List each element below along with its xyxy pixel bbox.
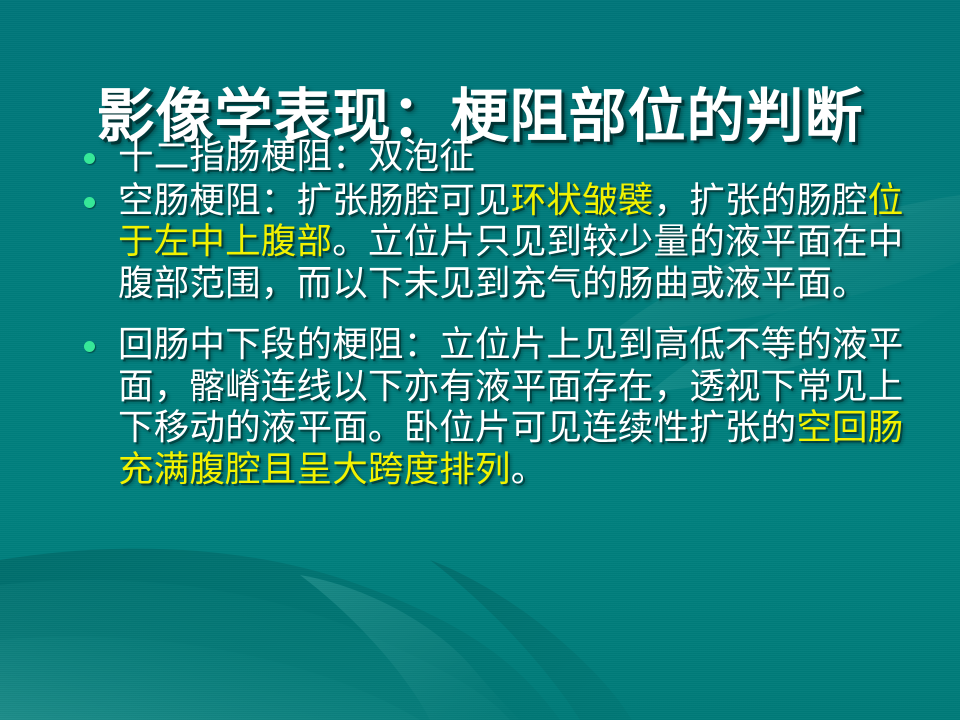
text-run: 。立位片只见到较少量的液平面 bbox=[332, 221, 832, 262]
list-item[interactable]: 十二指肠梗阻：双泡征 bbox=[72, 136, 924, 178]
bullet-dot-icon bbox=[84, 197, 95, 208]
bullet-dot-icon bbox=[84, 341, 95, 352]
text-run: 面。 bbox=[796, 263, 867, 304]
bullet-dot-icon bbox=[84, 153, 95, 164]
presentation-slide: 影像学表现：梗阻部位的判断 十二指肠梗阻：双泡征 空肠梗阻：扩张肠腔可见环状皱襞… bbox=[0, 0, 960, 720]
list-item[interactable]: 空肠梗阻：扩张肠腔可见环状皱襞，扩张的肠腔位于左中上腹部。立位片只见到较少量的液… bbox=[72, 180, 924, 305]
text-run: 十二指肠梗阻：双泡征 bbox=[118, 136, 475, 177]
text-run: 空肠梗阻：扩张肠腔可见 bbox=[118, 180, 511, 221]
bullet-list: 十二指肠梗阻：双泡征 空肠梗阻：扩张肠腔可见环状皱襞，扩张的肠腔位于左中上腹部。… bbox=[72, 136, 924, 490]
text-run: 回肠中下段的梗阻：立位片上见到高低不等的液 bbox=[118, 324, 868, 365]
highlighted-term: 环状皱襞 bbox=[511, 180, 654, 221]
list-item-text: 空肠梗阻：扩张肠腔可见环状皱襞，扩张的肠腔位于左中上腹部。立位片只见到较少量的液… bbox=[118, 180, 924, 305]
text-run: 。 bbox=[511, 449, 547, 490]
text-run: ，扩张的肠腔 bbox=[654, 180, 868, 221]
list-item[interactable]: 回肠中下段的梗阻：立位片上见到高低不等的液平面，髂嵴连线以下亦有液平面存在，透视… bbox=[72, 324, 924, 490]
list-item-text: 十二指肠梗阻：双泡征 bbox=[118, 136, 924, 178]
list-spacer bbox=[72, 304, 924, 324]
list-item-text: 回肠中下段的梗阻：立位片上见到高低不等的液平面，髂嵴连线以下亦有液平面存在，透视… bbox=[118, 324, 924, 490]
